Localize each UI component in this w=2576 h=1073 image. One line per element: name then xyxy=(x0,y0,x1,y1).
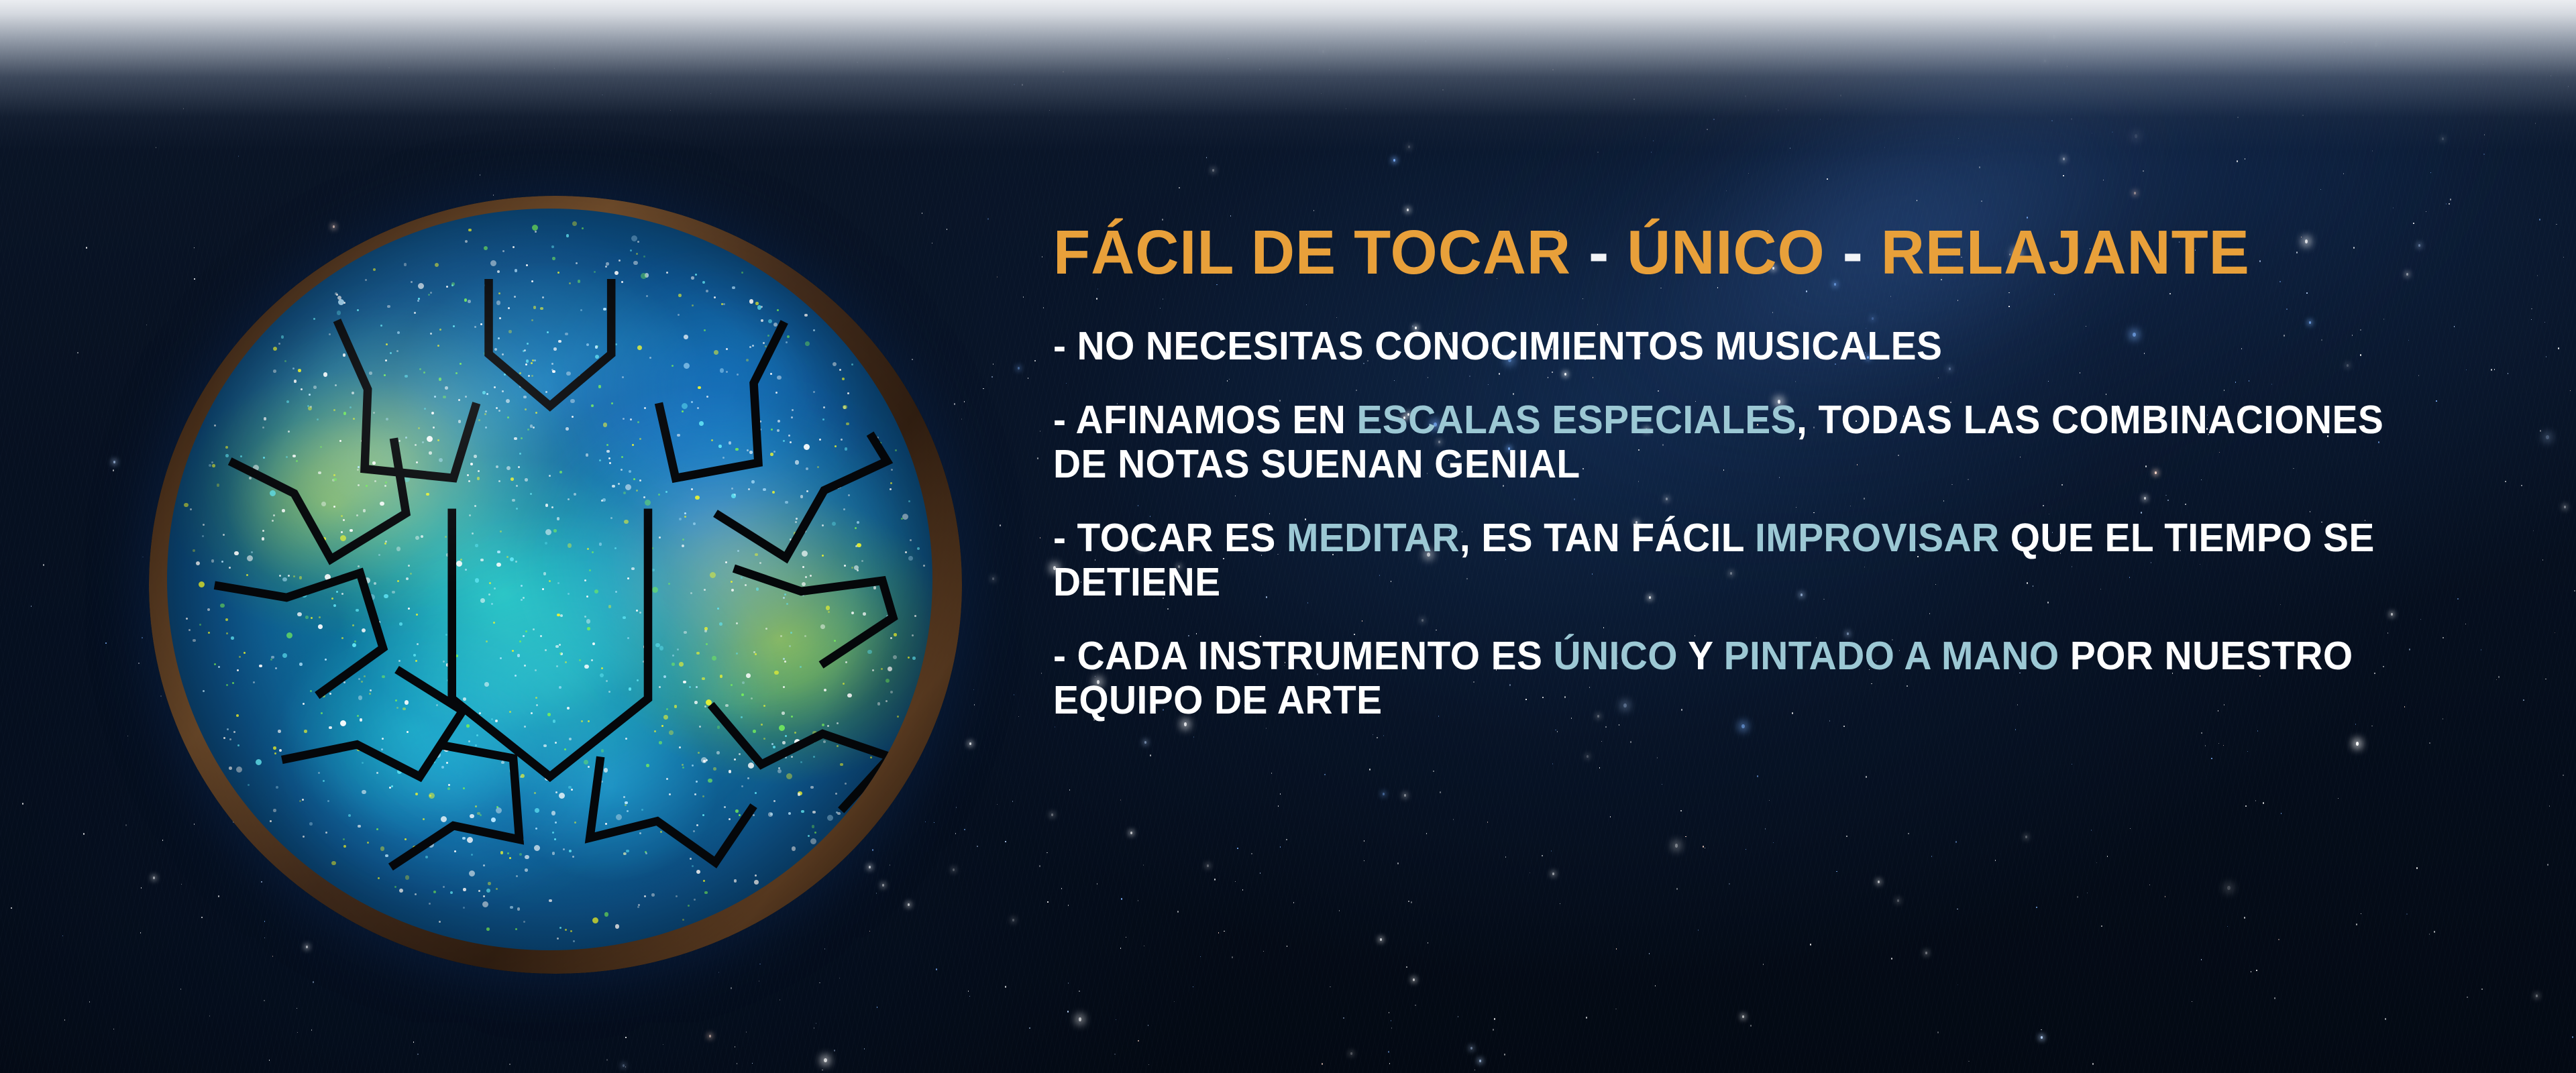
benefit-text: CADA INSTRUMENTO ES xyxy=(1077,634,1554,678)
headline-separator: - xyxy=(1825,217,1881,287)
benefit-text: AFINAMOS EN xyxy=(1075,398,1356,442)
benefit-item: - AFINAMOS EN ESCALAS ESPECIALES, TODAS … xyxy=(1053,398,2432,486)
copy-block: FÁCIL DE TOCAR - ÚNICO - RELAJANTE - NO … xyxy=(1053,221,2482,723)
bullet-marker: - xyxy=(1053,398,1075,442)
benefit-item: - TOCAR ES MEDITAR, ES TAN FÁCIL IMPROVI… xyxy=(1053,516,2432,604)
benefit-list: - NO NECESITAS CONOCIMIENTOS MUSICALES- … xyxy=(1053,324,2482,723)
headline-part-0: FÁCIL DE TOCAR xyxy=(1053,217,1571,287)
benefit-item: - NO NECESITAS CONOCIMIENTOS MUSICALES xyxy=(1053,324,2432,368)
bullet-marker: - xyxy=(1053,516,1077,560)
benefit-highlight: PINTADO A MANO xyxy=(1724,634,2059,678)
drum-body xyxy=(149,196,962,974)
benefit-highlight: ESCALAS ESPECIALES xyxy=(1356,398,1796,442)
benefit-text: , ES TAN FÁCIL xyxy=(1460,516,1755,560)
benefit-item: - CADA INSTRUMENTO ES ÚNICO Y PINTADO A … xyxy=(1053,634,2432,722)
benefit-highlight: IMPROVISAR xyxy=(1755,516,1999,560)
headline-part-1: ÚNICO xyxy=(1627,217,1825,287)
benefit-text: Y xyxy=(1678,634,1724,678)
headline-part-2: RELAJANTE xyxy=(1881,217,2250,287)
top-light-fade xyxy=(0,0,2576,168)
benefit-text: NO NECESITAS CONOCIMIENTOS MUSICALES xyxy=(1077,324,1943,368)
bullet-marker: - xyxy=(1053,324,1077,368)
handpan-drum-image xyxy=(149,196,962,974)
bullet-marker: - xyxy=(1053,634,1077,678)
drum-painted-face xyxy=(167,209,933,951)
headline-separator: - xyxy=(1571,217,1627,287)
benefit-text: TOCAR ES xyxy=(1077,516,1287,560)
promo-banner: FÁCIL DE TOCAR - ÚNICO - RELAJANTE - NO … xyxy=(0,0,2576,1073)
drum-tongue-cuts xyxy=(167,209,933,951)
benefit-highlight: ÚNICO xyxy=(1554,634,1678,678)
benefit-highlight: MEDITAR xyxy=(1287,516,1460,560)
page-title: FÁCIL DE TOCAR - ÚNICO - RELAJANTE xyxy=(1053,221,2439,284)
